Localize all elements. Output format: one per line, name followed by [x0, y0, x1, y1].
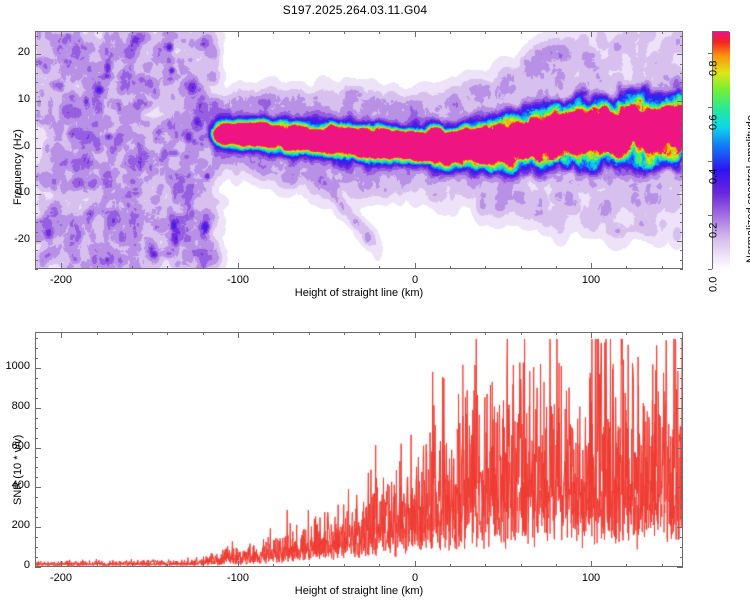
axis-tick [379, 564, 380, 567]
axis-tick [677, 567, 683, 568]
axis-tick [344, 332, 345, 335]
axis-tick-label: -100 [227, 274, 249, 286]
spectrogram-y-axis-label: Frequency (Hz) [12, 129, 24, 205]
axis-tick [35, 73, 38, 74]
axis-tick [273, 564, 274, 567]
axis-tick [35, 497, 38, 498]
axis-tick [680, 129, 683, 130]
axis-tick-label: -200 [50, 572, 72, 584]
axis-tick [203, 266, 204, 269]
axis-tick [591, 263, 592, 269]
colorbar-tick-label: 0.6 [707, 115, 719, 130]
axis-tick [61, 332, 62, 338]
axis-tick [415, 263, 416, 269]
axis-tick [35, 487, 41, 488]
axis-tick [591, 31, 592, 37]
axis-tick [680, 250, 683, 251]
axis-tick [680, 204, 683, 205]
axis-tick [450, 564, 451, 567]
axis-tick [677, 408, 683, 409]
snr-plot [35, 332, 683, 567]
axis-tick [680, 166, 683, 167]
axis-tick [626, 31, 627, 34]
colorbar-tick-label: 0.8 [707, 61, 719, 76]
axis-tick [167, 332, 168, 335]
axis-tick [35, 64, 38, 65]
axis-tick [680, 82, 683, 83]
axis-tick [680, 64, 683, 65]
axis-tick [238, 263, 239, 269]
axis-tick [35, 232, 38, 233]
axis-tick [35, 408, 41, 409]
axis-tick [662, 266, 663, 269]
axis-tick [61, 263, 62, 269]
axis-tick [35, 269, 38, 270]
axis-tick [680, 557, 683, 558]
axis-tick [680, 438, 683, 439]
axis-tick [35, 194, 41, 195]
axis-tick [35, 250, 38, 251]
axis-tick-label: 0 [412, 572, 418, 584]
axis-tick [35, 517, 38, 518]
axis-tick [556, 266, 557, 269]
colorbar-tick [708, 53, 712, 54]
axis-tick [677, 448, 683, 449]
axis-tick [680, 185, 683, 186]
axis-tick [680, 378, 683, 379]
axis-tick-label: 200 [12, 519, 30, 531]
axis-tick [97, 564, 98, 567]
axis-tick [677, 487, 683, 488]
snr-x-axis-label: Height of straight line (km) [295, 585, 423, 597]
axis-tick [680, 36, 683, 37]
axis-tick [680, 477, 683, 478]
axis-tick [626, 266, 627, 269]
axis-tick [677, 368, 683, 369]
axis-tick [680, 45, 683, 46]
page-title: S197.2025.264.03.11.G04 [0, 3, 710, 17]
axis-tick [680, 457, 683, 458]
axis-tick [35, 388, 38, 389]
axis-tick [662, 564, 663, 567]
axis-tick [35, 36, 38, 37]
axis-tick [35, 222, 38, 223]
axis-tick [132, 31, 133, 34]
colorbar-tick [708, 161, 712, 162]
axis-tick [273, 31, 274, 34]
axis-tick [35, 54, 41, 55]
axis-tick [35, 120, 38, 121]
axis-tick [344, 31, 345, 34]
axis-tick [485, 332, 486, 335]
axis-tick [485, 31, 486, 34]
colorbar-tick-label: 0.2 [707, 223, 719, 238]
axis-tick [626, 564, 627, 567]
axis-tick-label: 100 [582, 274, 600, 286]
axis-tick [680, 388, 683, 389]
axis-tick [167, 31, 168, 34]
axis-tick [238, 31, 239, 37]
axis-tick [35, 92, 38, 93]
axis-tick [680, 138, 683, 139]
axis-tick [132, 564, 133, 567]
axis-tick [344, 266, 345, 269]
axis-tick [238, 561, 239, 567]
axis-tick [35, 338, 38, 339]
snr-y-axis-label: SNR (10 * v/v) [12, 435, 24, 505]
axis-tick-label: 20 [18, 46, 30, 58]
axis-tick [680, 398, 683, 399]
axis-tick-label: 0 [24, 559, 30, 571]
axis-tick [35, 507, 38, 508]
axis-tick [35, 537, 38, 538]
axis-tick [203, 564, 204, 567]
axis-tick [450, 266, 451, 269]
axis-tick [97, 332, 98, 335]
axis-tick [415, 561, 416, 567]
axis-tick [415, 332, 416, 338]
axis-tick-label: -20 [14, 233, 30, 245]
axis-tick [35, 398, 38, 399]
axis-tick [167, 266, 168, 269]
axis-tick [35, 185, 38, 186]
axis-tick [680, 497, 683, 498]
axis-tick [556, 332, 557, 335]
axis-tick [521, 332, 522, 335]
axis-tick [450, 31, 451, 34]
axis-tick [35, 457, 38, 458]
axis-tick [35, 477, 38, 478]
axis-tick [203, 31, 204, 34]
axis-tick [677, 241, 683, 242]
axis-tick [677, 527, 683, 528]
axis-tick [273, 332, 274, 335]
axis-tick [680, 467, 683, 468]
axis-tick [344, 564, 345, 567]
axis-tick [238, 332, 239, 338]
colorbar-tick-label: 0.4 [707, 169, 719, 184]
axis-tick [556, 564, 557, 567]
axis-tick [680, 157, 683, 158]
axis-tick [680, 232, 683, 233]
axis-tick [680, 176, 683, 177]
axis-tick-label: -100 [227, 572, 249, 584]
axis-tick [591, 332, 592, 338]
axis-tick [35, 557, 38, 558]
axis-tick [680, 222, 683, 223]
axis-tick [35, 448, 41, 449]
axis-tick [662, 332, 663, 335]
axis-tick [680, 428, 683, 429]
axis-tick-label: 1000 [6, 360, 30, 372]
axis-tick [379, 332, 380, 335]
axis-tick [35, 129, 38, 130]
colorbar-label: Normalized spectral amplitude [745, 115, 750, 263]
axis-tick [680, 348, 683, 349]
axis-tick [61, 561, 62, 567]
axis-tick [35, 157, 38, 158]
axis-tick [677, 194, 683, 195]
axis-tick [680, 418, 683, 419]
axis-tick [35, 204, 38, 205]
axis-tick [35, 148, 41, 149]
axis-tick [35, 438, 38, 439]
spectrogram-plot [35, 31, 683, 269]
axis-tick [309, 564, 310, 567]
axis-tick [35, 166, 38, 167]
axis-tick [677, 54, 683, 55]
axis-tick [132, 332, 133, 335]
axis-tick [680, 547, 683, 548]
axis-tick [379, 266, 380, 269]
axis-tick [35, 213, 38, 214]
axis-tick-label: 0 [412, 274, 418, 286]
axis-tick [35, 110, 38, 111]
axis-tick [35, 358, 38, 359]
axis-tick [61, 31, 62, 37]
axis-tick-label: 800 [12, 400, 30, 412]
axis-tick [680, 213, 683, 214]
axis-tick-label: -200 [50, 274, 72, 286]
axis-tick [35, 527, 41, 528]
axis-tick [680, 338, 683, 339]
axis-tick [309, 31, 310, 34]
axis-tick [35, 547, 38, 548]
axis-tick [35, 368, 41, 369]
axis-tick [35, 467, 38, 468]
axis-tick [521, 266, 522, 269]
colorbar-tick [708, 107, 712, 108]
axis-tick [662, 31, 663, 34]
axis-tick [203, 332, 204, 335]
axis-tick [35, 567, 41, 568]
axis-tick [35, 82, 38, 83]
axis-tick [35, 348, 38, 349]
axis-tick [35, 45, 38, 46]
axis-tick [167, 564, 168, 567]
axis-tick [97, 266, 98, 269]
axis-tick [35, 428, 38, 429]
axis-tick [680, 260, 683, 261]
axis-tick [309, 332, 310, 335]
axis-tick [35, 241, 41, 242]
axis-tick [309, 266, 310, 269]
axis-tick [680, 110, 683, 111]
axis-tick [680, 120, 683, 121]
axis-tick [591, 561, 592, 567]
axis-tick [677, 101, 683, 102]
axis-tick [677, 148, 683, 149]
axis-tick [415, 31, 416, 37]
axis-tick [626, 332, 627, 335]
axis-tick-label: 0 [24, 140, 30, 152]
axis-tick [680, 92, 683, 93]
axis-tick-label: 10 [18, 93, 30, 105]
axis-tick [97, 31, 98, 34]
axis-tick [35, 138, 38, 139]
axis-tick [680, 73, 683, 74]
axis-tick [680, 358, 683, 359]
axis-tick-label: 100 [582, 572, 600, 584]
axis-tick [680, 507, 683, 508]
colorbar-tick-label: 0.0 [707, 277, 719, 292]
axis-tick [35, 418, 38, 419]
axis-tick [273, 266, 274, 269]
axis-tick [450, 332, 451, 335]
axis-tick [680, 537, 683, 538]
axis-tick [485, 266, 486, 269]
colorbar-tick [708, 269, 712, 270]
axis-tick [485, 564, 486, 567]
axis-tick [680, 269, 683, 270]
axis-tick [379, 31, 380, 34]
axis-tick [132, 266, 133, 269]
axis-tick [521, 31, 522, 34]
axis-tick [35, 378, 38, 379]
axis-tick [35, 260, 38, 261]
axis-tick [35, 101, 41, 102]
colorbar-tick [708, 215, 712, 216]
axis-tick [521, 564, 522, 567]
axis-tick [680, 517, 683, 518]
axis-tick [35, 176, 38, 177]
axis-tick [556, 31, 557, 34]
spectrogram-x-axis-label: Height of straight line (km) [295, 287, 423, 299]
